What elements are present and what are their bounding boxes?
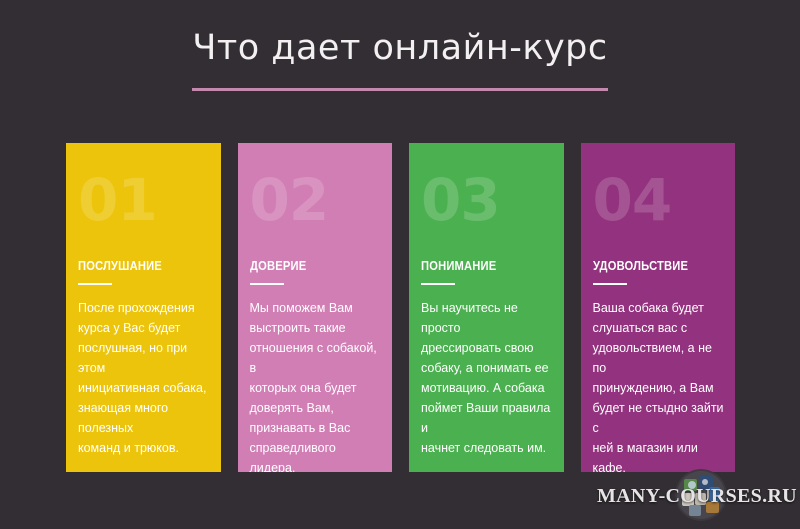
card-number-4: 04	[593, 171, 672, 229]
benefit-card-3[interactable]: 03 ПОНИМАНИЕ Вы научитесь не просто дрес…	[409, 143, 564, 472]
benefit-cards-row: 01 ПОСЛУШАНИЕ После прохождения курса у …	[66, 143, 735, 472]
benefit-card-1[interactable]: 01 ПОСЛУШАНИЕ После прохождения курса у …	[66, 143, 221, 472]
card-divider-2	[250, 283, 284, 285]
card-body-2: Мы поможем Вам выстроить такие отношения…	[250, 298, 383, 472]
card-divider-3	[421, 283, 455, 285]
card-body-4: Ваша собака будет слушаться вас с удовол…	[593, 298, 726, 472]
card-heading-3: ПОНИМАНИЕ	[421, 258, 496, 273]
benefit-card-4[interactable]: 04 УДОВОЛЬСТВИЕ Ваша собака будет слушат…	[581, 143, 736, 472]
slide-root: Что дает онлайн-курс 01 ПОСЛУШАНИЕ После…	[0, 0, 800, 529]
card-content-3: 03 ПОНИМАНИЕ Вы научитесь не просто дрес…	[421, 143, 554, 472]
card-body-1: После прохождения курса у Вас будет посл…	[78, 298, 211, 458]
benefit-card-2[interactable]: 02 ДОВЕРИЕ Мы поможем Вам выстроить таки…	[238, 143, 393, 472]
title-block: Что дает онлайн-курс	[0, 26, 800, 91]
watermark: MANY-COURSES.RU	[597, 471, 792, 523]
card-content-1: 01 ПОСЛУШАНИЕ После прохождения курса у …	[78, 143, 211, 472]
card-divider-1	[78, 283, 112, 285]
card-content-4: 04 УДОВОЛЬСТВИЕ Ваша собака будет слушат…	[593, 143, 726, 472]
card-number-1: 01	[78, 171, 157, 229]
card-body-3: Вы научитесь не просто дрессировать свою…	[421, 298, 554, 458]
card-heading-1: ПОСЛУШАНИЕ	[78, 258, 162, 273]
card-number-2: 02	[250, 171, 329, 229]
card-content-2: 02 ДОВЕРИЕ Мы поможем Вам выстроить таки…	[250, 143, 383, 472]
title-underline-rule	[192, 88, 608, 91]
card-heading-4: УДОВОЛЬСТВИЕ	[593, 258, 688, 273]
card-heading-2: ДОВЕРИЕ	[250, 258, 306, 273]
card-number-3: 03	[421, 171, 500, 229]
card-divider-4	[593, 283, 627, 285]
page-title: Что дает онлайн-курс	[0, 26, 800, 70]
watermark-text: MANY-COURSES.RU	[597, 485, 792, 508]
